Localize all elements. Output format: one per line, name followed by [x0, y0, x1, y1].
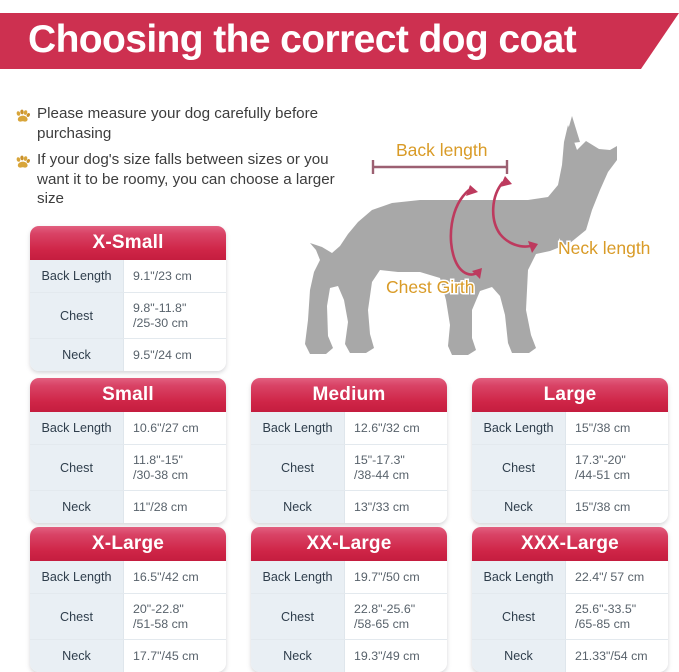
table-row: Neck 11"/28 cm: [30, 491, 226, 523]
value-line: 15"/38 cm: [575, 421, 668, 436]
row-value: 19.7"/50 cm: [345, 561, 447, 593]
row-value: 16.5"/42 cm: [124, 561, 226, 593]
size-table-body: Back Length 16.5"/42 cm Chest 20"-22.8" …: [30, 561, 226, 672]
neck-length-label: Neck length: [558, 238, 650, 258]
table-row: Chest 17.3"-20" /44-51 cm: [472, 445, 668, 491]
value-line: 17.3"-20": [575, 453, 668, 468]
size-table-body: Back Length 10.6"/27 cm Chest 11.8"-15" …: [30, 412, 226, 523]
table-row: Chest 25.6"-33.5" /65-85 cm: [472, 594, 668, 640]
size-table-title: Small: [30, 378, 226, 412]
value-line: /38-44 cm: [354, 468, 447, 483]
table-row: Chest 15"-17.3" /38-44 cm: [251, 445, 447, 491]
value-line: /25-30 cm: [133, 316, 226, 331]
row-label: Neck: [472, 491, 566, 523]
size-table-title: X-Small: [30, 226, 226, 260]
row-label: Back Length: [251, 561, 345, 593]
row-label: Chest: [251, 594, 345, 639]
size-table-x-large: X-Large Back Length 16.5"/42 cm Chest 20…: [30, 527, 226, 672]
value-line: /65-85 cm: [575, 617, 668, 632]
size-table-body: Back Length 15"/38 cm Chest 17.3"-20" /4…: [472, 412, 668, 523]
value-line: 9.5"/24 cm: [133, 348, 226, 363]
value-line: 11"/28 cm: [133, 500, 226, 515]
row-label: Chest: [472, 445, 566, 490]
chest-girth-label: Chest Girth: [386, 277, 475, 297]
row-label: Neck: [30, 339, 124, 371]
value-line: 9.8"-11.8": [133, 301, 226, 316]
table-row: Neck 15"/38 cm: [472, 491, 668, 523]
size-table-body: Back Length 12.6"/32 cm Chest 15"-17.3" …: [251, 412, 447, 523]
value-line: 19.7"/50 cm: [354, 570, 447, 585]
row-value: 22.8"-25.6" /58-65 cm: [345, 594, 447, 639]
row-value: 15"/38 cm: [566, 491, 668, 523]
value-line: 20"-22.8": [133, 602, 226, 617]
page-header-banner: Choosing the correct dog coat: [0, 13, 679, 69]
table-row: Back Length 15"/38 cm: [472, 412, 668, 445]
row-value: 15"-17.3" /38-44 cm: [345, 445, 447, 490]
size-table-title: X-Large: [30, 527, 226, 561]
dog-measurement-diagram: Back length Neck length Chest Girth: [300, 110, 679, 372]
row-value: 19.3"/49 cm: [345, 640, 447, 672]
size-table-large: Large Back Length 15"/38 cm Chest 17.3"-…: [472, 378, 668, 523]
value-line: 16.5"/42 cm: [133, 570, 226, 585]
table-row: Neck 21.33"/54 cm: [472, 640, 668, 672]
row-value: 22.4"/ 57 cm: [566, 561, 668, 593]
value-line: 13"/33 cm: [354, 500, 447, 515]
table-row: Neck 9.5"/24 cm: [30, 339, 226, 371]
row-label: Back Length: [251, 412, 345, 444]
note-item: If your dog's size falls between sizes o…: [14, 150, 344, 209]
table-row: Back Length 16.5"/42 cm: [30, 561, 226, 594]
row-value: 11"/28 cm: [124, 491, 226, 523]
back-length-label: Back length: [396, 140, 487, 160]
row-value: 9.5"/24 cm: [124, 339, 226, 371]
table-row: Neck 19.3"/49 cm: [251, 640, 447, 672]
value-line: 15"-17.3": [354, 453, 447, 468]
size-table-xxx-large: XXX-Large Back Length 22.4"/ 57 cm Chest…: [472, 527, 668, 672]
size-table-title: Medium: [251, 378, 447, 412]
table-row: Back Length 9.1"/23 cm: [30, 260, 226, 293]
row-label: Chest: [30, 594, 124, 639]
row-label: Chest: [251, 445, 345, 490]
size-table-body: Back Length 19.7"/50 cm Chest 22.8"-25.6…: [251, 561, 447, 672]
row-label: Neck: [251, 640, 345, 672]
value-line: /58-65 cm: [354, 617, 447, 632]
value-line: /51-58 cm: [133, 617, 226, 632]
table-row: Back Length 12.6"/32 cm: [251, 412, 447, 445]
row-label: Back Length: [30, 412, 124, 444]
value-line: 21.33"/54 cm: [575, 649, 668, 664]
table-row: Chest 22.8"-25.6" /58-65 cm: [251, 594, 447, 640]
row-value: 15"/38 cm: [566, 412, 668, 444]
measurement-notes: Please measure your dog carefully before…: [14, 104, 344, 216]
size-table-xx-large: XX-Large Back Length 19.7"/50 cm Chest 2…: [251, 527, 447, 672]
paw-print-icon: [14, 107, 31, 124]
size-table-title: XX-Large: [251, 527, 447, 561]
row-value: 13"/33 cm: [345, 491, 447, 523]
row-value: 25.6"-33.5" /65-85 cm: [566, 594, 668, 639]
row-value: 21.33"/54 cm: [566, 640, 668, 672]
size-table-body: Back Length 9.1"/23 cm Chest 9.8"-11.8" …: [30, 260, 226, 371]
table-row: Chest 20"-22.8" /51-58 cm: [30, 594, 226, 640]
value-line: 19.3"/49 cm: [354, 649, 447, 664]
row-label: Neck: [251, 491, 345, 523]
row-label: Back Length: [30, 260, 124, 292]
row-label: Back Length: [30, 561, 124, 593]
value-line: 9.1"/23 cm: [133, 269, 226, 284]
row-value: 12.6"/32 cm: [345, 412, 447, 444]
value-line: /30-38 cm: [133, 468, 226, 483]
page-title: Choosing the correct dog coat: [28, 13, 576, 69]
note-text: Please measure your dog carefully before…: [37, 104, 344, 143]
value-line: 25.6"-33.5": [575, 602, 668, 617]
row-label: Back Length: [472, 561, 566, 593]
row-label: Chest: [30, 293, 124, 338]
row-label: Neck: [30, 640, 124, 672]
row-label: Chest: [472, 594, 566, 639]
row-value: 17.7"/45 cm: [124, 640, 226, 672]
value-line: 12.6"/32 cm: [354, 421, 447, 436]
value-line: 22.4"/ 57 cm: [575, 570, 668, 585]
size-table-body: Back Length 22.4"/ 57 cm Chest 25.6"-33.…: [472, 561, 668, 672]
table-row: Neck 17.7"/45 cm: [30, 640, 226, 672]
table-row: Back Length 22.4"/ 57 cm: [472, 561, 668, 594]
note-item: Please measure your dog carefully before…: [14, 104, 344, 143]
row-value: 9.8"-11.8" /25-30 cm: [124, 293, 226, 338]
row-label: Neck: [472, 640, 566, 672]
row-value: 9.1"/23 cm: [124, 260, 226, 292]
row-label: Neck: [30, 491, 124, 523]
paw-print-icon: [14, 153, 31, 170]
value-line: 22.8"-25.6": [354, 602, 447, 617]
row-label: Back Length: [472, 412, 566, 444]
size-table-x-small: X-Small Back Length 9.1"/23 cm Chest 9.8…: [30, 226, 226, 371]
size-table-title: XXX-Large: [472, 527, 668, 561]
value-line: 15"/38 cm: [575, 500, 668, 515]
value-line: 17.7"/45 cm: [133, 649, 226, 664]
row-value: 20"-22.8" /51-58 cm: [124, 594, 226, 639]
table-row: Neck 13"/33 cm: [251, 491, 447, 523]
table-row: Back Length 19.7"/50 cm: [251, 561, 447, 594]
row-value: 17.3"-20" /44-51 cm: [566, 445, 668, 490]
value-line: /44-51 cm: [575, 468, 668, 483]
note-text: If your dog's size falls between sizes o…: [37, 150, 344, 209]
row-value: 10.6"/27 cm: [124, 412, 226, 444]
table-row: Chest 11.8"-15" /30-38 cm: [30, 445, 226, 491]
table-row: Back Length 10.6"/27 cm: [30, 412, 226, 445]
row-label: Chest: [30, 445, 124, 490]
value-line: 10.6"/27 cm: [133, 421, 226, 436]
table-row: Chest 9.8"-11.8" /25-30 cm: [30, 293, 226, 339]
row-value: 11.8"-15" /30-38 cm: [124, 445, 226, 490]
size-table-medium: Medium Back Length 12.6"/32 cm Chest 15"…: [251, 378, 447, 523]
size-table-small: Small Back Length 10.6"/27 cm Chest 11.8…: [30, 378, 226, 523]
value-line: 11.8"-15": [133, 453, 226, 468]
size-table-title: Large: [472, 378, 668, 412]
back-length-bracket: [373, 160, 507, 174]
